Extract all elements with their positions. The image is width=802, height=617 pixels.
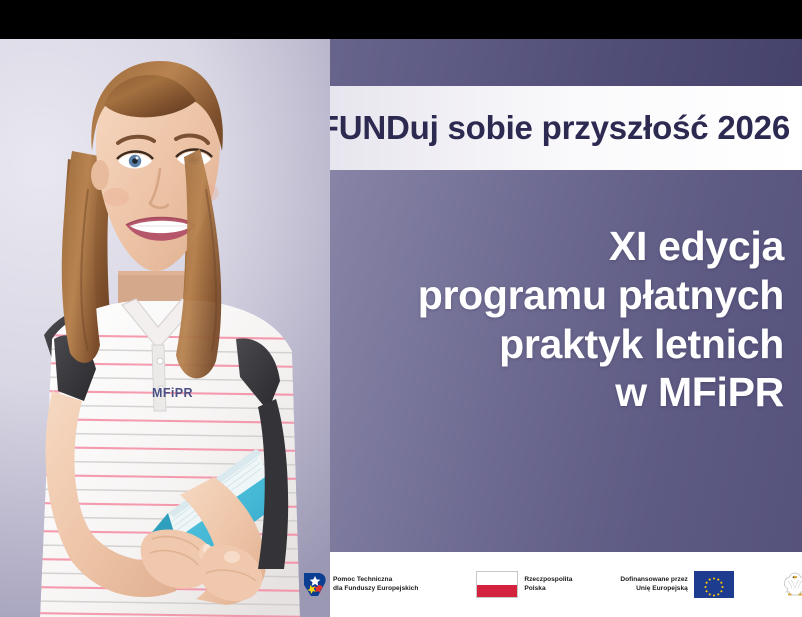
cheek-left (103, 188, 129, 206)
headline-line-2: programu płatnych (418, 271, 784, 320)
logo-fe-line2: dla Funduszy Europejskich (333, 585, 418, 594)
logo-ue-line2: Unię Europejską (620, 585, 687, 594)
logo-fe-line1: Pomoc Techniczna (333, 576, 392, 583)
headline-line-3: praktyk letnich (418, 320, 784, 369)
logo-ministerstwo: Ministerstwo Funduszy i Polityki Regiona… (782, 570, 802, 599)
flag-white-stripe (477, 572, 517, 585)
polo-placket (152, 345, 166, 411)
shirt-mfipr-logo: MFiPR (152, 386, 193, 400)
eu-funds-logo-icon (302, 571, 328, 598)
polish-eagle-icon (782, 570, 802, 599)
footer-logo-strip: Pomoc Techniczna dla Funduszy Europejski… (302, 552, 802, 617)
letterbox-bar-top (0, 0, 802, 39)
ear (91, 160, 109, 190)
logo-fe-label: Pomoc Techniczna dla Funduszy Europejski… (333, 576, 418, 593)
headline-block: XI edycja programu płatnych praktyk letn… (418, 222, 784, 417)
student-photo: MFiPR (0, 39, 330, 617)
banner-title: zaFUNDuj sobie przyszłość 2026 (284, 109, 790, 147)
eu-flag-icon (694, 571, 734, 598)
polo-button-1 (157, 358, 163, 364)
headline-line-1: XI edycja (418, 222, 784, 271)
flag-red-stripe (477, 585, 517, 598)
logo-ue-label: Dofinansowane przez Unię Europejską (620, 576, 687, 593)
logo-fundusze-europejskie: Pomoc Techniczna dla Funduszy Europejski… (302, 571, 418, 598)
logo-rz-line1: Rzeczpospolita (524, 576, 572, 583)
logo-rzeczpospolita-polska: Rzeczpospolita Polska (476, 571, 572, 598)
logo-ue-line1: Dofinansowane przez (620, 576, 687, 583)
logo-dofinansowane-ue: Dofinansowane przez Unię Europejską (620, 571, 733, 598)
headline-line-4: w MFiPR (418, 368, 784, 417)
student-illustration: MFiPR (0, 39, 330, 617)
promo-banner: zaFUNDuj sobie przyszłość 2026 XI edycja… (0, 0, 802, 617)
logo-rz-line2: Polska (524, 585, 572, 594)
polish-flag-icon (476, 571, 518, 598)
logo-rz-label: Rzeczpospolita Polska (524, 576, 572, 593)
